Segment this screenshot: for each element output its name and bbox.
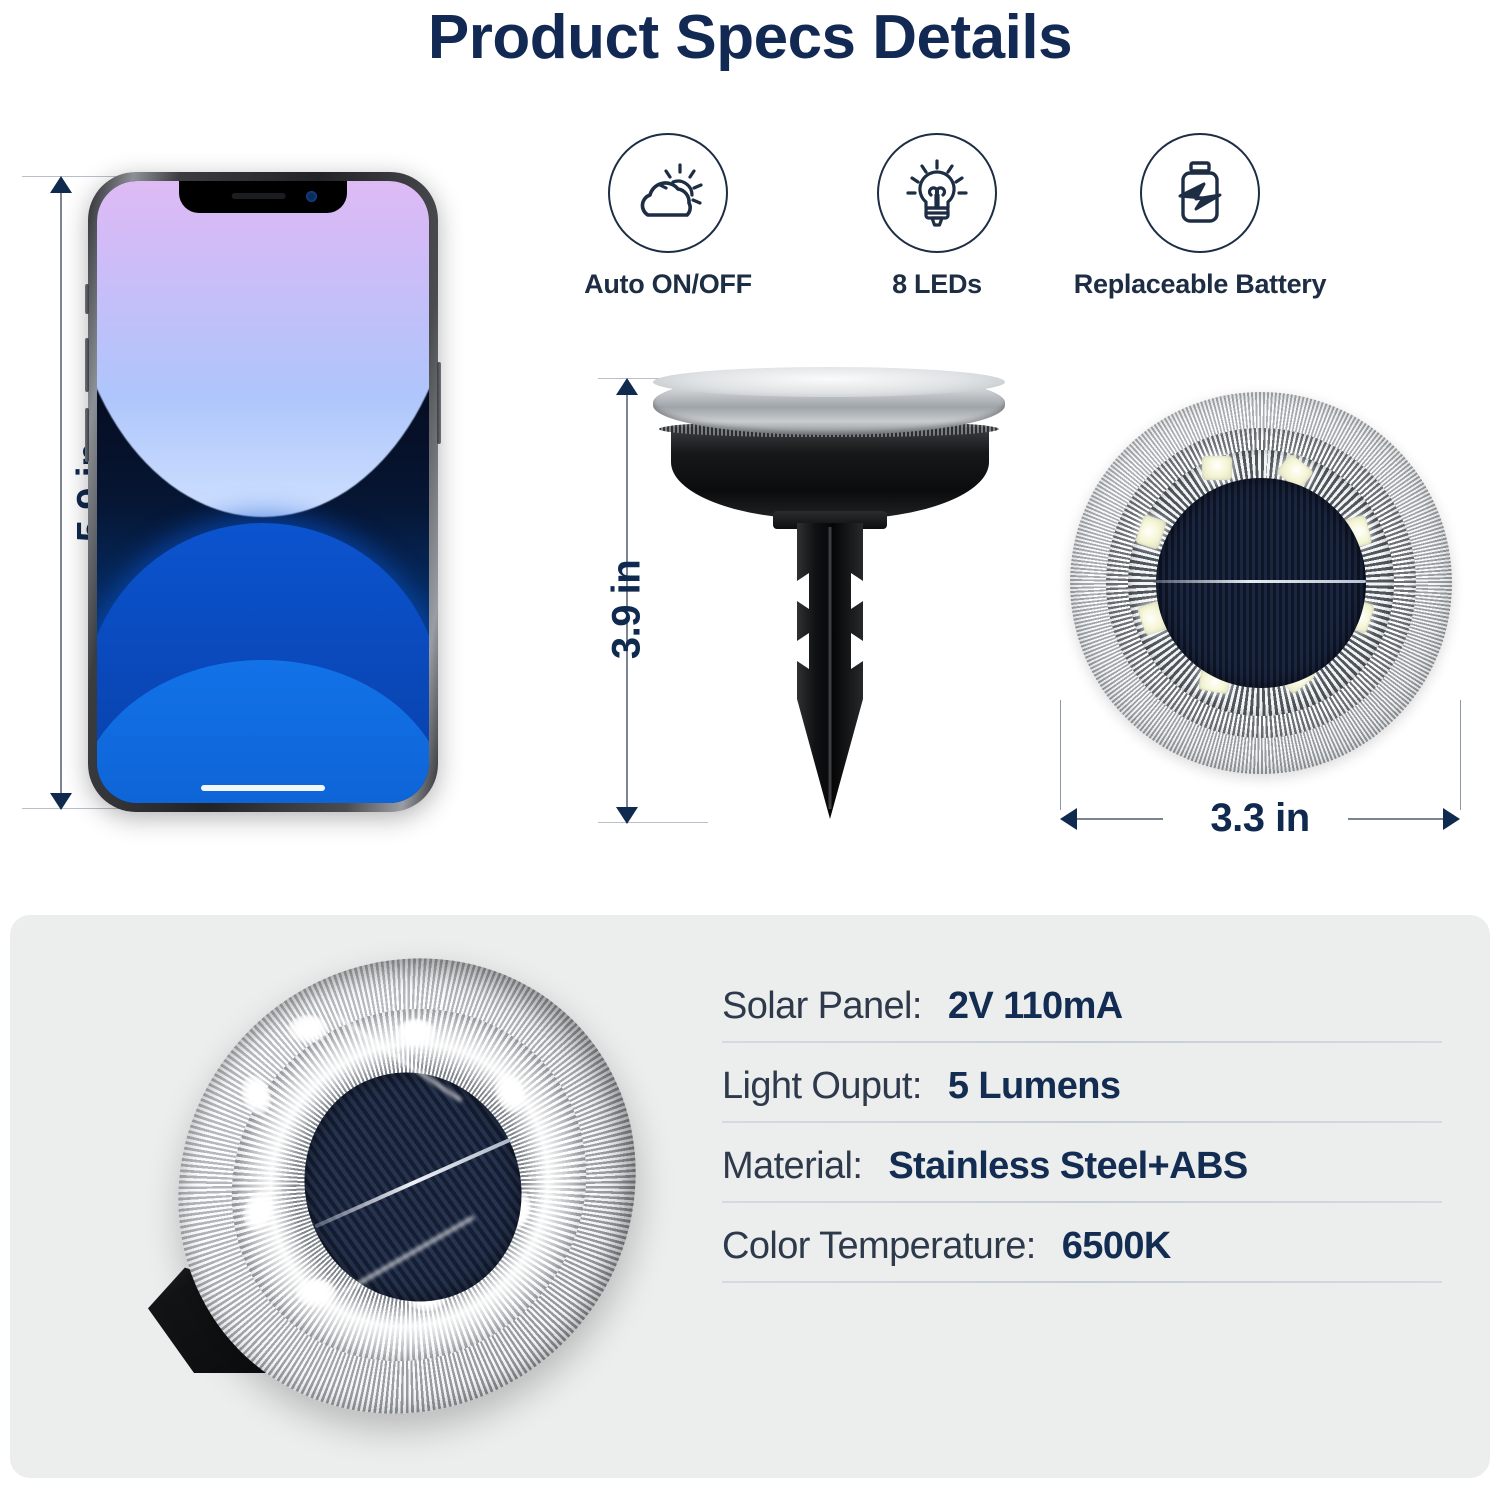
- page-title: Product Specs Details: [0, 2, 1500, 73]
- phone-notch: [179, 181, 347, 213]
- volume-up-button: [85, 338, 89, 392]
- auto-on-off-icon: [626, 151, 710, 235]
- power-button: [437, 362, 441, 444]
- spec-table: Solar Panel: 2V 110mA Light Ouput: 5 Lum…: [722, 963, 1442, 1283]
- feature-label: Auto ON/OFF: [548, 269, 788, 300]
- feature-badge: [877, 133, 997, 253]
- spec-value: 5 Lumens: [948, 1065, 1121, 1108]
- earpiece-speaker: [232, 193, 286, 199]
- light-top-face: [653, 367, 1005, 397]
- feature-badge: [608, 133, 728, 253]
- hero-rim-shadow: [146, 915, 668, 1456]
- solar-panel-top: [1156, 478, 1366, 688]
- light-diameter-dim-line-right: [1348, 818, 1453, 820]
- product-specs-infographic: Product Specs Details Auto ON/OFF: [0, 0, 1500, 1486]
- spec-row-solar-panel: Solar Panel: 2V 110mA: [722, 963, 1442, 1041]
- home-indicator: [201, 785, 325, 791]
- specs-panel: Solar Panel: 2V 110mA Light Ouput: 5 Lum…: [10, 915, 1490, 1478]
- hero-product-photo: [138, 953, 648, 1443]
- light-diameter-arrow-left: [1060, 808, 1077, 830]
- spec-value: 6500K: [1062, 1225, 1171, 1268]
- spec-divider-4: [722, 1281, 1442, 1283]
- spec-row-material: Material: Stainless Steel+ABS: [722, 1123, 1442, 1201]
- light-body-side: [671, 427, 989, 519]
- light-height-arrow-top: [616, 378, 638, 395]
- led-bulb-icon: [895, 151, 979, 235]
- spec-value: Stainless Steel+ABS: [888, 1145, 1247, 1188]
- feature-auto-on-off: Auto ON/OFF: [548, 133, 788, 300]
- led-1: [1202, 456, 1232, 480]
- feature-replaceable-battery: Replaceable Battery: [1060, 133, 1340, 300]
- spec-row-color-temperature: Color Temperature: 6500K: [722, 1203, 1442, 1281]
- phone-image: [88, 172, 438, 812]
- light-height-arrow-bottom: [616, 807, 638, 824]
- feature-badge: [1140, 133, 1260, 253]
- mute-switch: [85, 284, 89, 314]
- phone-dim-arrow-bottom: [50, 793, 72, 810]
- phone-dim-line: [60, 184, 62, 802]
- spec-label: Material:: [722, 1145, 862, 1188]
- solar-panel-busbar: [1156, 580, 1366, 583]
- spec-label: Color Temperature:: [722, 1225, 1036, 1268]
- light-diameter-ext-left: [1060, 700, 1061, 810]
- spec-row-light-output: Light Ouput: 5 Lumens: [722, 1043, 1442, 1121]
- spec-value: 2V 110mA: [948, 985, 1123, 1028]
- feature-label: Replaceable Battery: [1060, 269, 1340, 300]
- solar-light-top-view: [1070, 392, 1452, 774]
- feature-label: 8 LEDs: [812, 269, 1062, 300]
- light-diameter-dim-line-left: [1068, 818, 1163, 820]
- phone-dim-arrow-top: [50, 176, 72, 193]
- phone-screen: [97, 181, 429, 803]
- feature-8-leds: 8 LEDs: [812, 133, 1062, 300]
- light-diameter-label: 3.3 in: [1170, 796, 1350, 841]
- solar-light-side-view: [645, 365, 1015, 825]
- spec-label: Solar Panel:: [722, 985, 922, 1028]
- volume-down-button: [85, 408, 89, 462]
- light-diameter-ext-right: [1460, 700, 1461, 810]
- light-diameter-arrow-right: [1443, 808, 1460, 830]
- battery-icon: [1158, 151, 1242, 235]
- front-camera-icon: [306, 191, 317, 202]
- light-height-label: 3.9 in: [605, 510, 650, 710]
- ground-stake-icon: [765, 523, 895, 823]
- spec-label: Light Ouput:: [722, 1065, 922, 1108]
